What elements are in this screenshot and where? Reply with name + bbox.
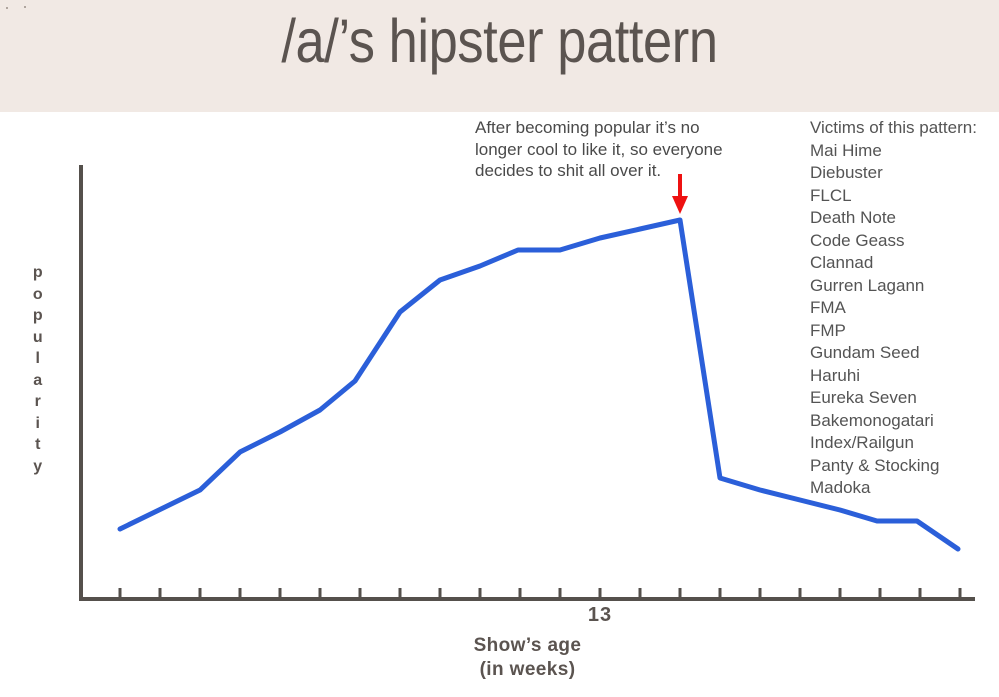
x-axis-tick-label: 13 xyxy=(570,604,630,627)
y-axis-label: p o p u l a r i t y xyxy=(26,262,50,477)
y-axis-label-letter: y xyxy=(26,456,50,478)
x-axis-label-line1: Show’s age xyxy=(380,634,675,658)
y-axis-label-letter: a xyxy=(26,370,50,392)
x-axis-label-line2: (in weeks) xyxy=(380,658,675,682)
y-axis-label-letter: i xyxy=(26,413,50,435)
y-axis-label-letter: u xyxy=(26,327,50,349)
x-axis-label: Show’s age (in weeks) xyxy=(380,634,675,682)
y-axis-label-letter: t xyxy=(26,434,50,456)
line-chart xyxy=(0,0,999,697)
y-axis-label-letter: p xyxy=(26,262,50,284)
y-axis-label-letter: p xyxy=(26,305,50,327)
y-axis-label-letter: l xyxy=(26,348,50,370)
slide-canvas: /a/’s hipster pattern After becoming pop… xyxy=(0,0,999,697)
y-axis-label-letter: o xyxy=(26,284,50,306)
x-axis-ticks xyxy=(120,588,960,598)
y-axis-label-letter: r xyxy=(26,391,50,413)
annotation-arrow-icon xyxy=(672,174,688,214)
data-series-line xyxy=(120,220,958,549)
